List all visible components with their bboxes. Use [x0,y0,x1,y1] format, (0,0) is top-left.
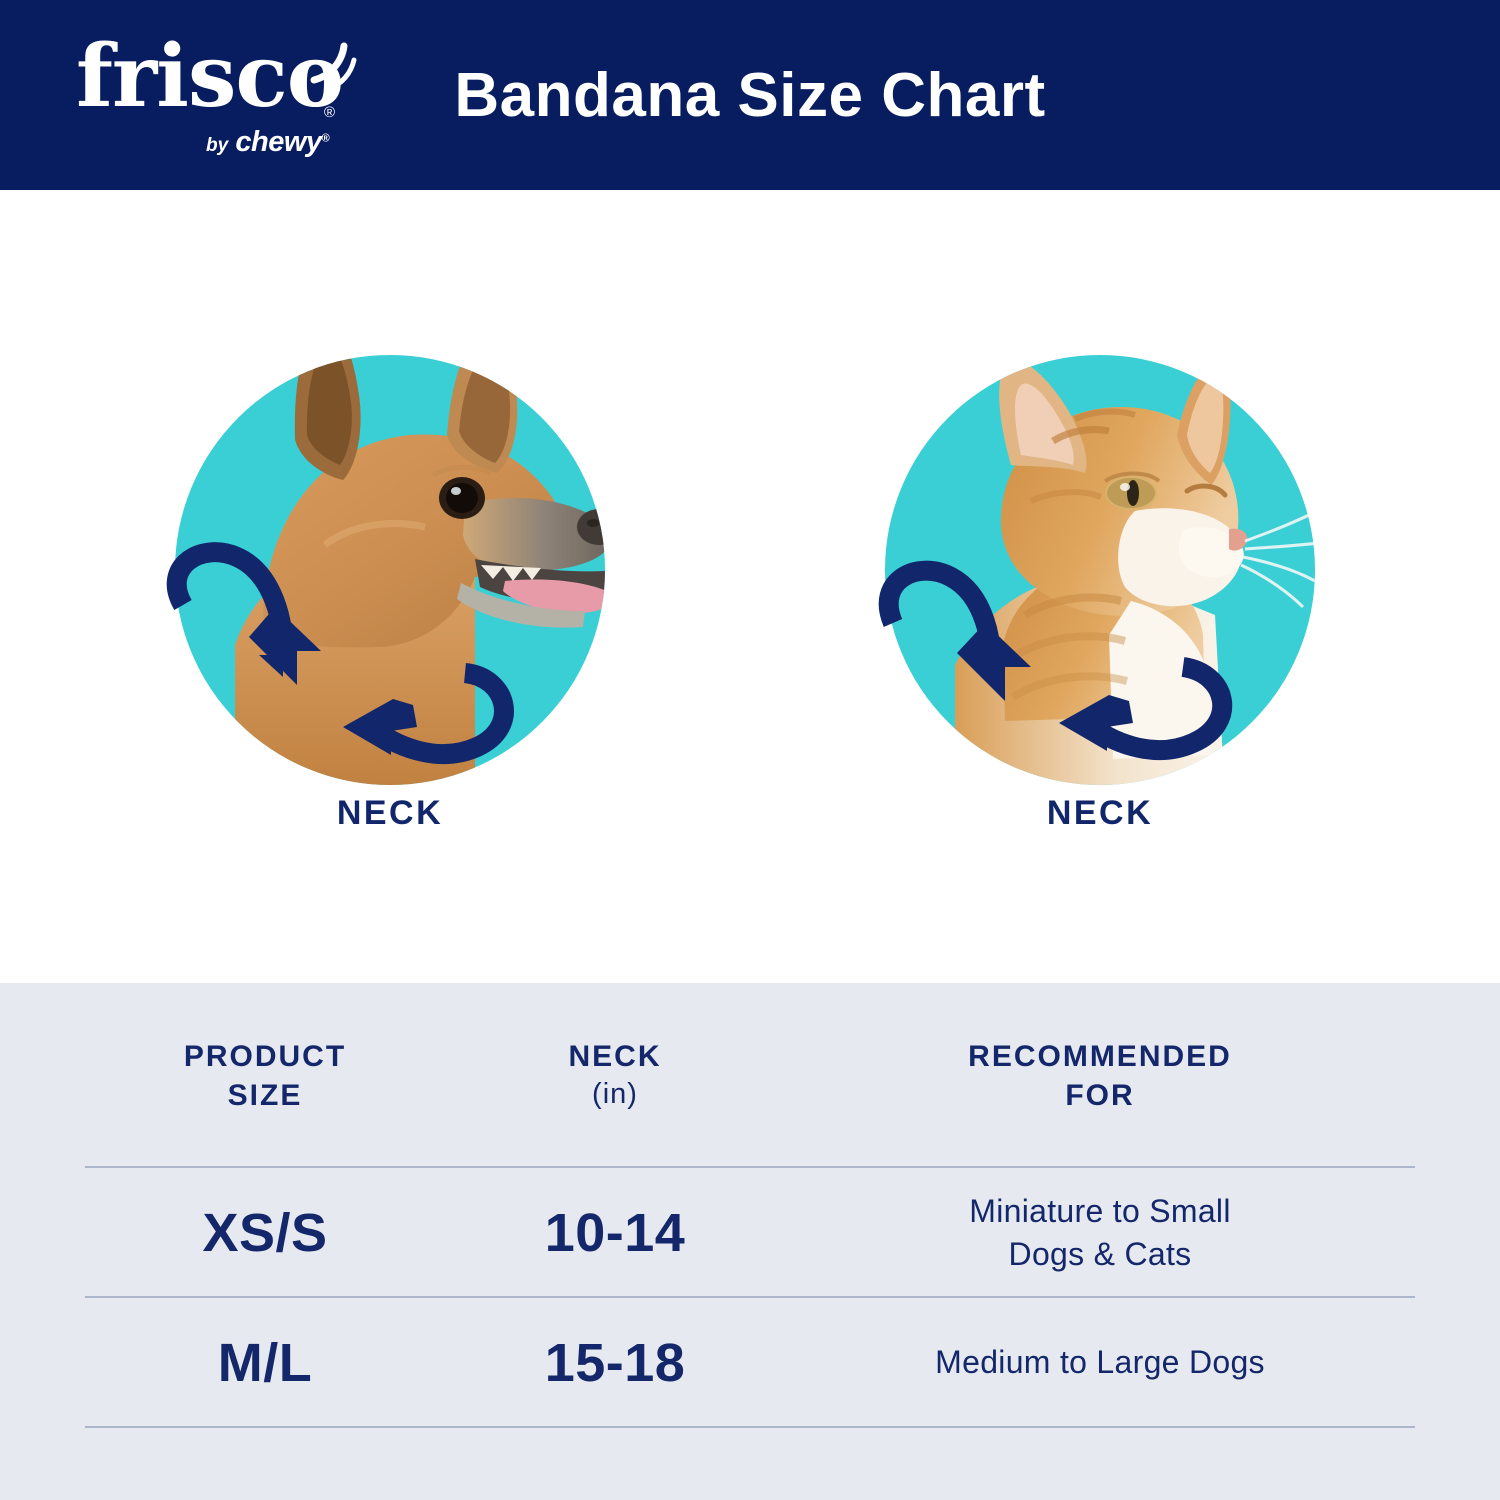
cat-head-illustration [885,315,1315,795]
cat-neck-label: NECK [770,794,1430,833]
table-header-row: PRODUCT SIZE NECK (in) RECOMMENDED FOR [85,983,1415,1168]
cell-recommended-line1: Miniature to Small [969,1193,1231,1229]
frisco-logo[interactable]: frisco ® by chewy® [76,34,376,162]
cell-product-size: XS/S [85,1202,445,1264]
dog-head-illustration [175,315,605,795]
column-header-product-size: PRODUCT SIZE [85,1037,445,1115]
column-header-product-size-line1: PRODUCT [184,1040,346,1073]
illustration-area: NECK [0,190,1500,983]
logo-chewy-registered-mark: ® [322,132,330,144]
cell-recommended-for: Miniature to Small Dogs & Cats [785,1190,1415,1276]
cell-recommended-line2: Dogs & Cats [969,1233,1231,1276]
dog-circle-wrap [175,355,605,785]
size-chart-table-section: PRODUCT SIZE NECK (in) RECOMMENDED FOR X… [0,983,1500,1500]
logo-wordmark: frisco [76,34,343,120]
cell-neck-range: 15-18 [445,1332,785,1394]
dog-neck-label: NECK [60,794,720,833]
logo-by-text: by [206,135,228,156]
column-header-recommended-line2: FOR [968,1076,1232,1115]
column-header-product-size-line2: SIZE [184,1076,346,1115]
cell-recommended-line1: Medium to Large Dogs [935,1344,1265,1380]
column-header-neck-unit: (in) [568,1076,661,1114]
logo-tail-swoosh-icon [308,40,362,94]
table-row: XS/S 10-14 Miniature to Small Dogs & Cat… [85,1168,1415,1298]
column-header-neck: NECK (in) [445,1037,785,1114]
header-bar: frisco ® by chewy® Bandana Size Chart [0,0,1500,190]
row-divider [85,1426,1415,1428]
logo-registered-mark: ® [324,104,335,121]
column-header-recommended-for: RECOMMENDED FOR [785,1037,1415,1115]
column-header-recommended-line1: RECOMMENDED [968,1040,1232,1073]
column-header-neck-line1: NECK [568,1040,661,1073]
cat-measurement-diagram: NECK [770,190,1430,983]
size-chart-table: PRODUCT SIZE NECK (in) RECOMMENDED FOR X… [85,983,1415,1428]
cell-neck-range: 10-14 [445,1202,785,1264]
logo-by-chewy: by chewy® [206,126,330,159]
dog-measurement-diagram: NECK [60,190,720,983]
table-row: M/L 15-18 Medium to Large Dogs [85,1298,1415,1428]
cell-recommended-for: Medium to Large Dogs [785,1341,1415,1384]
cat-circle-wrap [885,355,1315,785]
cell-product-size: M/L [85,1332,445,1394]
logo-chewy-text: chewy [235,126,321,158]
